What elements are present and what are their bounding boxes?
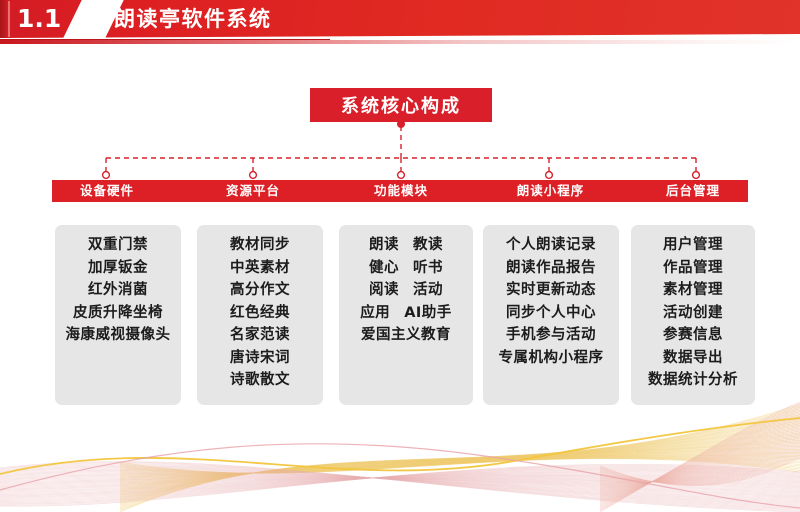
header-banner: 1.1 朗读亭软件系统 — [0, 0, 800, 38]
deco-wave-line — [600, 405, 800, 510]
deco-wave-line — [0, 478, 800, 494]
card-item-left: 阅读 — [369, 279, 399, 302]
deco-wave-line — [600, 428, 800, 491]
card-item[interactable]: 参赛信息 — [631, 324, 755, 347]
connector-node-4 — [546, 172, 553, 179]
deco-wave-line — [120, 454, 800, 474]
card-item[interactable]: 专属机构小程序 — [483, 347, 619, 370]
deco-wave-line — [600, 422, 800, 496]
header-left-edge-highlight — [8, 1, 10, 37]
deco-wave-line — [120, 431, 800, 492]
card-item[interactable]: 应用AI助手 — [339, 302, 473, 325]
deco-wave-line — [600, 425, 800, 492]
deco-wave-line — [120, 418, 800, 502]
card-item[interactable]: 唐诗宋词 — [197, 347, 323, 370]
deco-wave-line — [0, 474, 800, 495]
deco-wave-line — [600, 414, 800, 503]
deco-wave-line — [0, 471, 800, 503]
card-item[interactable]: 海康威视摄像头 — [55, 324, 181, 347]
deco-wave-line — [600, 437, 800, 483]
deco-wave-line — [0, 475, 800, 494]
card-item[interactable]: 朗读作品报告 — [483, 257, 619, 280]
card-item[interactable]: 手机参与活动 — [483, 324, 619, 347]
deco-wave-line — [120, 458, 800, 473]
deco-wave-group-yellow — [120, 404, 800, 512]
deco-wave-line — [600, 445, 800, 482]
deco-wave-line — [120, 407, 800, 510]
deco-wave-line — [600, 420, 800, 497]
deco-wave-line — [0, 464, 800, 510]
deco-wave-line — [0, 474, 800, 498]
card-item[interactable]: 教材同步 — [197, 234, 323, 257]
card-item[interactable]: 中英素材 — [197, 257, 323, 280]
content-card-equipment: 双重门禁加厚钣金红外消菌皮质升降坐椅海康威视摄像头 — [55, 225, 181, 405]
deco-wave-line — [600, 441, 800, 482]
card-item[interactable]: 阅读活动 — [339, 279, 473, 302]
deco-wave-line — [600, 455, 800, 484]
deco-wave-line — [120, 434, 800, 490]
deco-wave-line — [120, 456, 800, 474]
deco-wave-line — [0, 466, 800, 504]
deco-wave-line — [120, 437, 800, 487]
card-item[interactable]: 作品管理 — [631, 257, 755, 280]
deco-wave-line — [0, 478, 800, 492]
deco-wave-line — [0, 465, 800, 509]
category-label-2[interactable]: 资源平台 — [198, 180, 308, 202]
core-title-text: 系统核心构成 — [341, 92, 461, 118]
deco-wave-line — [120, 439, 800, 487]
deco-wave-line — [0, 476, 800, 492]
content-card-admin: 用户管理作品管理素材管理活动创建参赛信息数据导出数据统计分析 — [631, 225, 755, 405]
deco-wave-line — [600, 433, 800, 486]
deco-wave-main-pink — [0, 444, 800, 508]
deco-wave-line — [120, 452, 800, 476]
bottom-decorative-waves — [0, 402, 800, 512]
category-label-3[interactable]: 功能模块 — [346, 180, 456, 202]
deco-wave-line — [120, 442, 800, 484]
deco-wave-line — [0, 470, 800, 504]
deco-wave-line — [0, 471, 800, 499]
deco-wave-line — [0, 469, 800, 505]
deco-wave-line — [600, 402, 800, 512]
deco-wave-line — [120, 443, 800, 483]
deco-wave-line — [600, 416, 800, 500]
card-item-left: 健心 — [369, 257, 399, 280]
deco-wave-line — [0, 466, 800, 508]
deco-wave-line — [600, 409, 800, 507]
deco-wave-line — [120, 455, 800, 474]
deco-wave-line — [600, 403, 800, 511]
deco-wave-line — [600, 424, 800, 494]
deco-wave-line — [120, 436, 800, 489]
header-section-number: 1.1 — [17, 1, 77, 37]
deco-wave-line — [0, 469, 800, 501]
page-title: 朗读亭软件系统 — [114, 2, 272, 36]
deco-wave-line — [0, 468, 800, 506]
deco-wave-line — [120, 459, 800, 474]
deco-wave-line — [600, 458, 800, 486]
card-item[interactable]: 朗读教读 — [339, 234, 473, 257]
deco-wave-line — [0, 473, 800, 499]
deco-wave-line — [600, 410, 800, 506]
deco-wave-line — [600, 440, 800, 482]
card-item-left: 朗读 — [369, 234, 399, 257]
deco-wave-line — [0, 477, 800, 492]
card-item[interactable]: 实时更新动态 — [483, 279, 619, 302]
deco-wave-line — [120, 427, 800, 496]
deco-wave-line — [600, 431, 800, 489]
card-item[interactable]: 活动创建 — [631, 302, 755, 325]
content-card-functions: 朗读教读健心听书阅读活动应用AI助手爱国主义教育 — [339, 225, 473, 405]
deco-wave-line — [120, 458, 800, 474]
card-item[interactable]: 皮质升降坐椅 — [55, 302, 181, 325]
deco-wave-line — [600, 427, 800, 492]
card-item[interactable]: 数据统计分析 — [631, 369, 755, 392]
deco-wave-group-pink — [0, 462, 800, 512]
deco-wave-line — [600, 415, 800, 501]
deco-wave-line — [0, 473, 800, 498]
deco-wave-line — [0, 465, 800, 505]
deco-wave-line — [0, 478, 800, 493]
deco-wave-line — [120, 415, 800, 505]
deco-wave-line — [120, 421, 800, 500]
deco-wave-line — [120, 419, 800, 501]
deco-wave-line — [0, 476, 800, 497]
deco-wave-line — [120, 457, 800, 473]
deco-wave-line — [0, 462, 800, 512]
deco-wave-line — [0, 475, 800, 498]
deco-wave-group-right — [600, 402, 800, 512]
deco-wave-line — [0, 477, 800, 494]
card-item-right: 活动 — [413, 279, 443, 302]
card-item[interactable]: 爱国主义教育 — [339, 324, 473, 347]
deco-wave-line — [120, 445, 800, 482]
deco-wave-line — [600, 436, 800, 484]
deco-wave-line — [120, 424, 800, 498]
deco-wave-line — [0, 467, 800, 507]
deco-wave-line — [120, 416, 800, 503]
deco-wave-line — [600, 448, 800, 482]
deco-wave-line — [120, 440, 800, 485]
deco-wave-line — [600, 442, 800, 481]
deco-wave-line — [600, 446, 800, 482]
card-item[interactable]: 健心听书 — [339, 257, 473, 280]
deco-wave-line — [600, 438, 800, 482]
deco-wave-line — [600, 444, 800, 482]
deco-wave-line — [0, 478, 800, 491]
deco-wave-line — [0, 478, 800, 490]
deco-wave-line — [120, 428, 800, 494]
card-item-right: 教读 — [413, 234, 443, 257]
deco-wave-line — [600, 429, 800, 489]
card-item[interactable]: 个人朗读记录 — [483, 234, 619, 257]
deco-wave-line — [600, 406, 800, 509]
deco-wave-line — [120, 458, 800, 473]
deco-wave-line — [120, 409, 800, 509]
deco-wave-line — [120, 413, 800, 505]
deco-wave-line — [120, 448, 800, 480]
deco-wave-line — [120, 404, 800, 512]
deco-wave-line — [0, 470, 800, 500]
deco-wave-line — [120, 451, 800, 478]
deco-wave-line — [120, 422, 800, 499]
deco-wave-line — [0, 473, 800, 501]
card-item[interactable]: 高分作文 — [197, 279, 323, 302]
core-title-box: 系统核心构成 — [310, 88, 492, 122]
card-item[interactable]: 红色经典 — [197, 302, 323, 325]
content-card-miniprogram: 个人朗读记录朗读作品报告实时更新动态同步个人中心手机参与活动专属机构小程序 — [483, 225, 619, 405]
card-item[interactable]: 诗歌散文 — [197, 369, 323, 392]
deco-wave-line — [120, 412, 800, 507]
deco-wave-line — [0, 472, 800, 498]
deco-wave-line — [0, 477, 800, 490]
deco-wave-line — [120, 458, 800, 473]
deco-wave-line — [120, 457, 800, 473]
card-item[interactable]: 数据导出 — [631, 347, 755, 370]
deco-wave-line — [600, 419, 800, 498]
deco-wave-line — [120, 406, 800, 511]
deco-wave-line — [600, 407, 800, 508]
content-card-resources: 教材同步中英素材高分作文红色经典名家范读唐诗宋词诗歌散文 — [197, 225, 323, 405]
deco-wave-main-yellow — [0, 418, 800, 474]
deco-wave-line — [600, 423, 800, 495]
card-item[interactable]: 素材管理 — [631, 279, 755, 302]
category-bar: 设备硬件 资源平台 功能模块 朗读小程序 后台管理 — [52, 180, 748, 202]
deco-wave-line — [600, 412, 800, 503]
deco-wave-line — [120, 430, 800, 493]
card-item[interactable]: 同步个人中心 — [483, 302, 619, 325]
category-label-4[interactable]: 朗读小程序 — [488, 180, 613, 202]
deco-wave-line — [0, 463, 800, 511]
card-item[interactable]: 双重门禁 — [55, 234, 181, 257]
deco-wave-line — [120, 456, 800, 473]
deco-wave-line — [600, 451, 800, 483]
deco-wave-line — [600, 449, 800, 482]
deco-wave-line — [120, 456, 800, 474]
deco-wave-line — [600, 432, 800, 487]
connector-node-5 — [693, 172, 700, 179]
category-label-5[interactable]: 后台管理 — [638, 180, 748, 202]
category-label-1[interactable]: 设备硬件 — [52, 180, 162, 202]
card-item-right: 听书 — [413, 257, 443, 280]
deco-wave-line — [0, 476, 800, 494]
card-item[interactable]: 加厚钣金 — [55, 257, 181, 280]
deco-wave-line — [0, 468, 800, 502]
connector-node-1 — [103, 172, 110, 179]
deco-wave-line — [600, 457, 800, 485]
deco-wave-line — [0, 467, 800, 503]
card-item[interactable]: 名家范读 — [197, 324, 323, 347]
deco-wave-line — [0, 473, 800, 496]
deco-wave-line — [600, 450, 800, 482]
deco-wave-line — [0, 472, 800, 502]
deco-wave-line — [120, 446, 800, 481]
deco-wave-line — [120, 410, 800, 508]
deco-wave-line — [600, 435, 800, 486]
card-item-right: AI助手 — [404, 302, 452, 325]
header-left-edge-accent — [0, 0, 7, 38]
connector-node-3 — [398, 172, 405, 179]
deco-wave-line — [600, 418, 800, 500]
deco-wave-line — [120, 453, 800, 475]
card-item-left: 应用 — [360, 302, 390, 325]
deco-wave-line — [120, 449, 800, 478]
deco-wave-line — [600, 453, 800, 484]
deco-wave-line — [600, 411, 800, 504]
card-item[interactable]: 用户管理 — [631, 234, 755, 257]
deco-wave-line — [0, 464, 800, 506]
deco-wave-line — [120, 433, 800, 491]
deco-wave-line — [120, 425, 800, 496]
deco-wave-line — [0, 477, 800, 496]
deco-wave-line — [600, 454, 800, 484]
header-underline-gradient — [0, 40, 800, 44]
connector-node-2 — [250, 172, 257, 179]
card-item[interactable]: 红外消菌 — [55, 279, 181, 302]
